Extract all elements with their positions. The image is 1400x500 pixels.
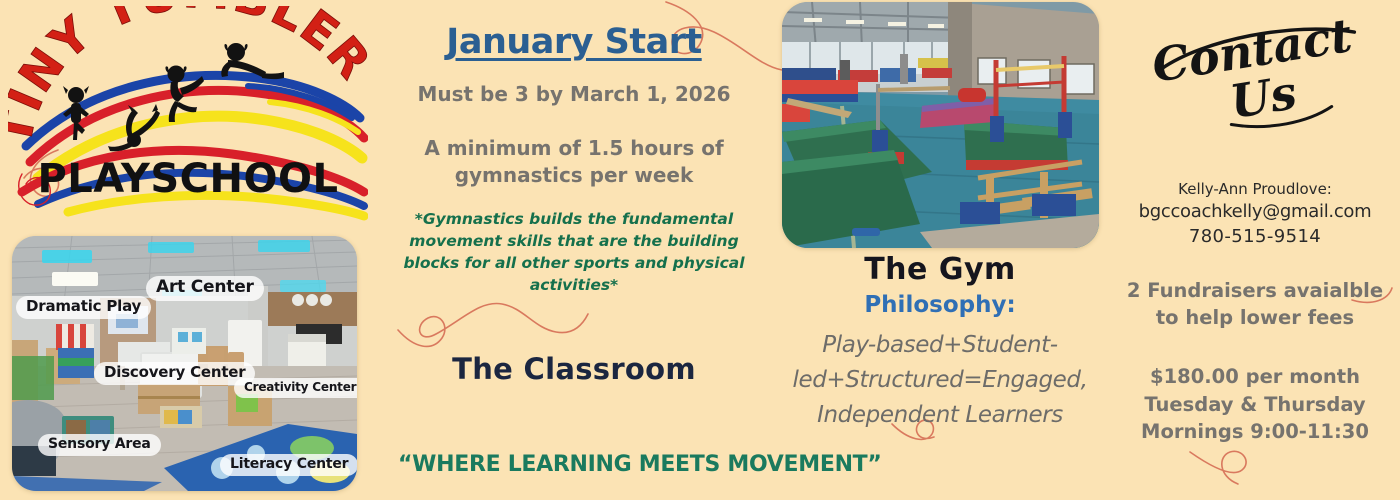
- class-time: Mornings 9:00-11:30: [1114, 418, 1396, 446]
- minimum-hours-text: A minimum of 1.5 hours of gymnastics per…: [408, 135, 740, 189]
- contact-phone[interactable]: 780-515-9514: [1110, 226, 1400, 247]
- tiny-tumblers-logo: TINY TUMBLERS PLAYSCHOOL: [8, 6, 368, 221]
- program-headline: January Start: [378, 22, 770, 62]
- gym-column: The Gym Philosophy: Play-based+Student-l…: [770, 0, 1110, 500]
- classroom-section-title: The Classroom: [378, 352, 770, 386]
- label-creativity-center: Creativity Center: [234, 378, 357, 398]
- fundraiser-note: 2 Fundraisers avaialble to help lower fe…: [1114, 277, 1396, 332]
- class-days: Tuesday & Thursday: [1114, 391, 1396, 419]
- label-sensory-area: Sensory Area: [38, 434, 161, 456]
- gymnastics-benefit-note: *Gymnastics builds the fundamental movem…: [398, 208, 750, 296]
- age-requirement-text: Must be 3 by March 1, 2026: [378, 82, 770, 106]
- contact-us-word-us: Us: [1227, 65, 1301, 129]
- monthly-price: $180.00 per month: [1114, 363, 1396, 391]
- program-column: January Start Must be 3 by March 1, 2026…: [378, 0, 770, 500]
- fees-block: $180.00 per month Tuesday & Thursday Mor…: [1114, 363, 1396, 446]
- philosophy-label: Philosophy:: [770, 292, 1110, 318]
- contact-email[interactable]: bgccoachkelly@gmail.com: [1110, 201, 1400, 222]
- label-dramatic-play: Dramatic Play: [16, 296, 151, 319]
- contact-person-name: Kelly-Ann Proudlove:: [1110, 180, 1400, 198]
- flyer-canvas: TINY TUMBLERS PLAYSCHOOL: [0, 0, 1400, 500]
- gym-section-title: The Gym: [770, 252, 1110, 287]
- label-art-center: Art Center: [146, 276, 264, 301]
- gym-photo-art: [782, 2, 1099, 248]
- gym-photo: [782, 2, 1099, 248]
- label-discovery-center: Discovery Center: [94, 362, 255, 385]
- label-literacy-center: Literacy Center: [220, 454, 357, 476]
- svg-text:PLAYSCHOOL: PLAYSCHOOL: [37, 156, 338, 202]
- philosophy-text: Play-based+Student-led+Structured=Engage…: [774, 328, 1106, 433]
- contact-column: Contact Us Kelly-Ann Proudlove: bgccoach…: [1110, 0, 1400, 500]
- brand-column: TINY TUMBLERS PLAYSCHOOL: [0, 0, 378, 500]
- classroom-photo: Dramatic Play Art Center Discovery Cente…: [12, 236, 357, 491]
- contact-us-heading: Contact Us: [1120, 14, 1392, 139]
